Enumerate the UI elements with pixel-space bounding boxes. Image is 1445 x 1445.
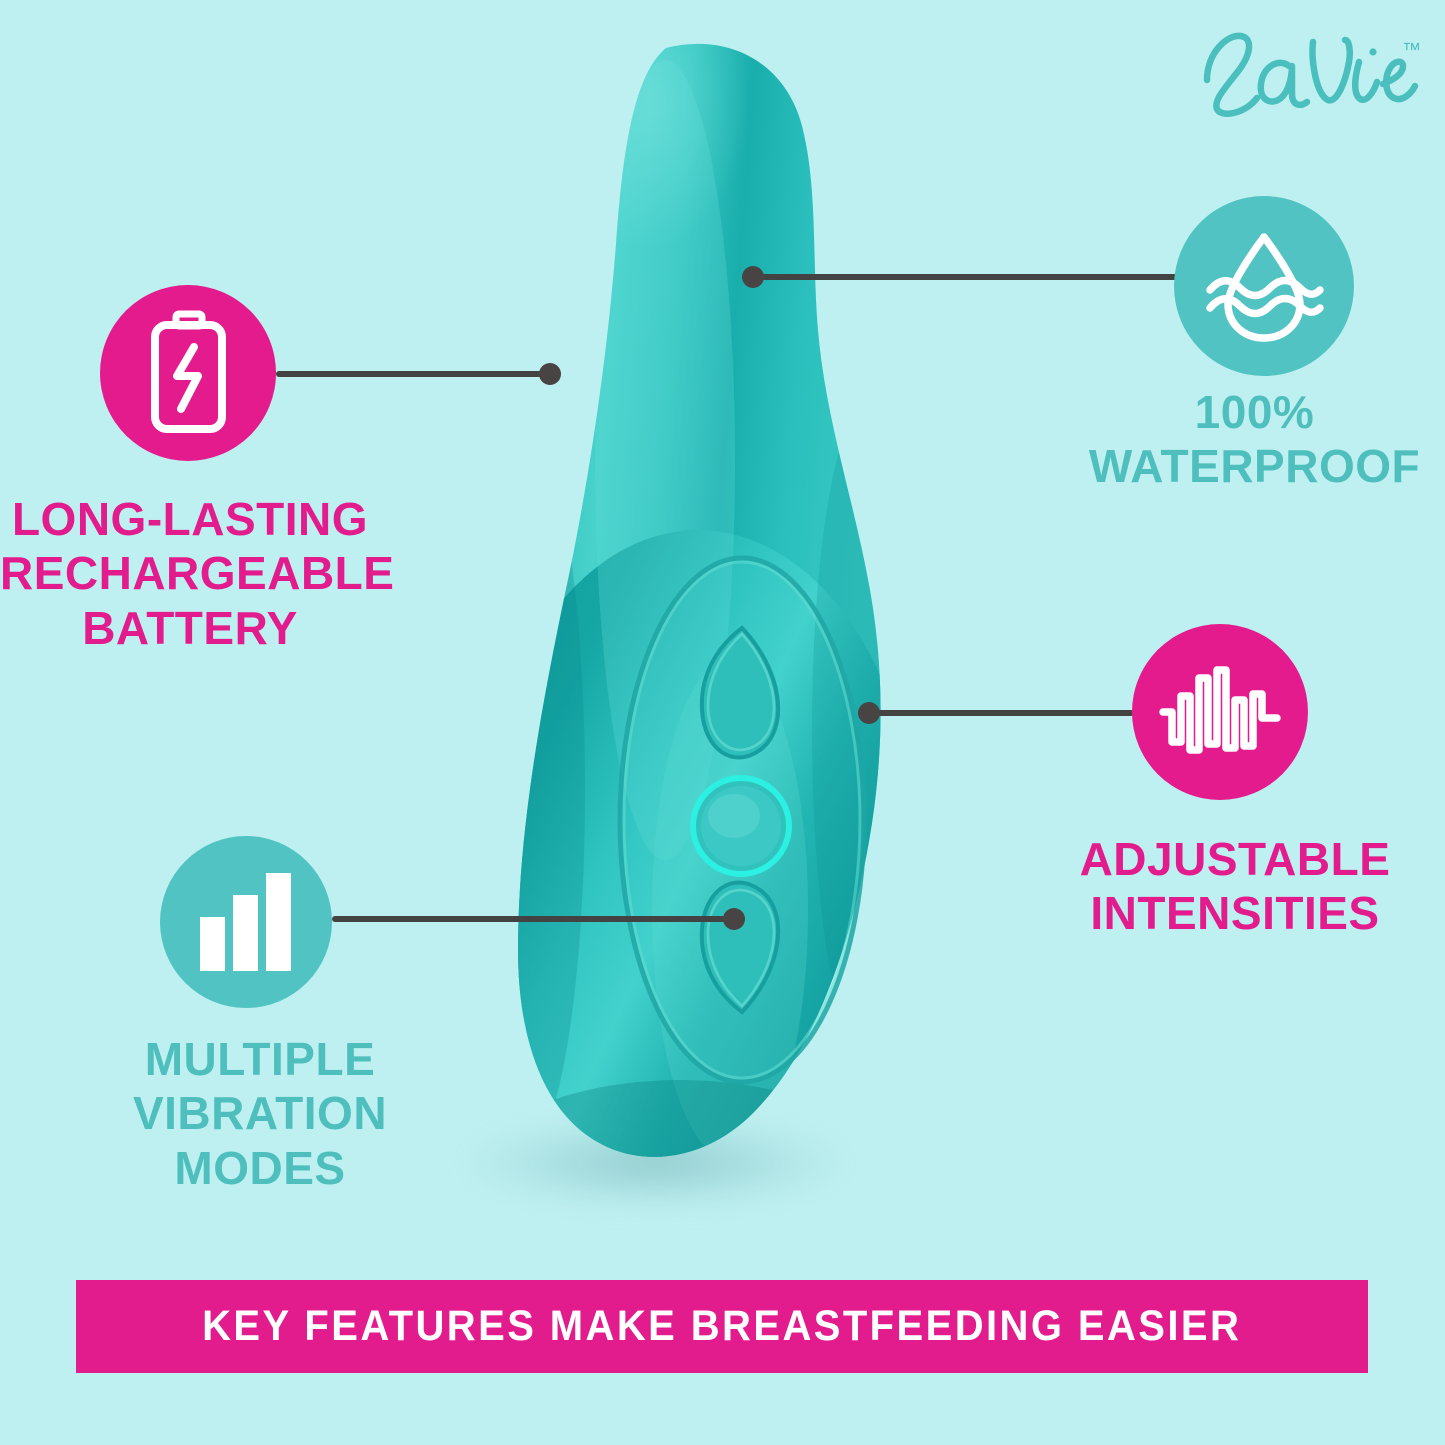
- product-image: [430, 30, 990, 1255]
- lavie-script-logo: [1193, 18, 1423, 128]
- leader-line-battery: [276, 371, 554, 377]
- feature-label-intensities: ADJUSTABLE INTENSITIES: [1040, 832, 1430, 941]
- leader-dot-battery: [539, 363, 561, 385]
- banner-text: KEY FEATURES MAKE BREASTFEEDING EASIER: [202, 1302, 1241, 1351]
- product-silhouette: [430, 30, 990, 1255]
- feature-label-waterproof-line-1: 100%: [1064, 385, 1445, 439]
- feature-label-vibration: MULTIPLE VIBRATION MODES: [90, 1032, 430, 1195]
- feature-icon-battery[interactable]: [100, 285, 276, 461]
- feature-label-battery-line-3: BATTERY: [0, 601, 380, 655]
- leader-dot-intensities: [858, 702, 880, 724]
- feature-label-waterproof-line-2: WATERPROOF: [1064, 439, 1445, 493]
- leader-line-waterproof: [756, 274, 1180, 280]
- feature-icon-intensities[interactable]: [1132, 624, 1308, 800]
- leader-dot-waterproof: [742, 266, 764, 288]
- feature-label-intensities-line-1: ADJUSTABLE: [1040, 832, 1430, 886]
- feature-label-vibration-line-1: MULTIPLE: [90, 1032, 430, 1086]
- leader-line-vibration: [332, 916, 736, 922]
- feature-label-vibration-line-3: MODES: [90, 1141, 430, 1195]
- key-features-banner: KEY FEATURES MAKE BREASTFEEDING EASIER: [76, 1280, 1368, 1373]
- feature-label-battery-line-1: LONG-LASTING: [0, 492, 380, 546]
- brand-logo: ™: [1193, 18, 1423, 128]
- battery-charging-icon: [136, 310, 240, 436]
- feature-label-waterproof: 100% WATERPROOF: [1064, 385, 1445, 494]
- power-button[interactable]: [693, 778, 789, 874]
- leader-dot-vibration: [723, 908, 745, 930]
- infographic-page: ™: [0, 0, 1445, 1445]
- waveform-icon: [1159, 660, 1281, 764]
- feature-label-battery-line-2: RECHARGEABLE: [0, 546, 380, 600]
- feature-icon-vibration[interactable]: [160, 836, 332, 1008]
- leader-line-intensities: [872, 710, 1134, 716]
- water-drop-icon: [1202, 228, 1326, 344]
- feature-icon-waterproof[interactable]: [1174, 196, 1354, 376]
- bar-chart-icon: [194, 871, 298, 973]
- feature-label-intensities-line-2: INTENSITIES: [1040, 886, 1430, 940]
- trademark-symbol: ™: [1402, 40, 1421, 62]
- feature-label-battery: LONG-LASTING RECHARGEABLE BATTERY: [0, 492, 380, 655]
- feature-label-vibration-line-2: VIBRATION: [90, 1086, 430, 1140]
